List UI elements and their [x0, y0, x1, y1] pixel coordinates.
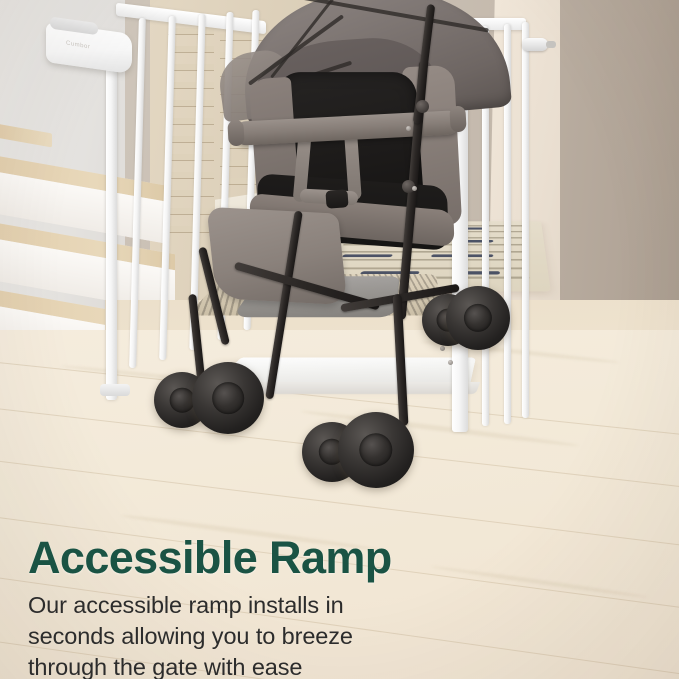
brand-logo: Cumbor — [66, 40, 90, 50]
wheel-front-inner — [192, 362, 264, 434]
gate-foot — [100, 384, 130, 396]
headline: Accessible Ramp — [28, 534, 458, 581]
harness-buckle — [325, 189, 348, 208]
body-copy: Our accessible ramp installs in seconds … — [28, 590, 458, 679]
pressure-mount-bolt-tip — [546, 41, 556, 48]
latch-button[interactable] — [50, 17, 98, 36]
text-overlay: Accessible Ramp Our accessible ramp inst… — [28, 534, 458, 679]
body-line-1: Our accessible ramp installs in — [28, 590, 458, 621]
stroller — [150, 0, 530, 514]
body-line-2: seconds allowing you to breeze — [28, 621, 458, 652]
wheel-rear-inner — [338, 412, 414, 488]
product-marketing-image: Cumbor — [0, 0, 679, 679]
wheel-far-inner — [446, 286, 510, 350]
body-line-3: through the gate with ease — [28, 652, 458, 679]
